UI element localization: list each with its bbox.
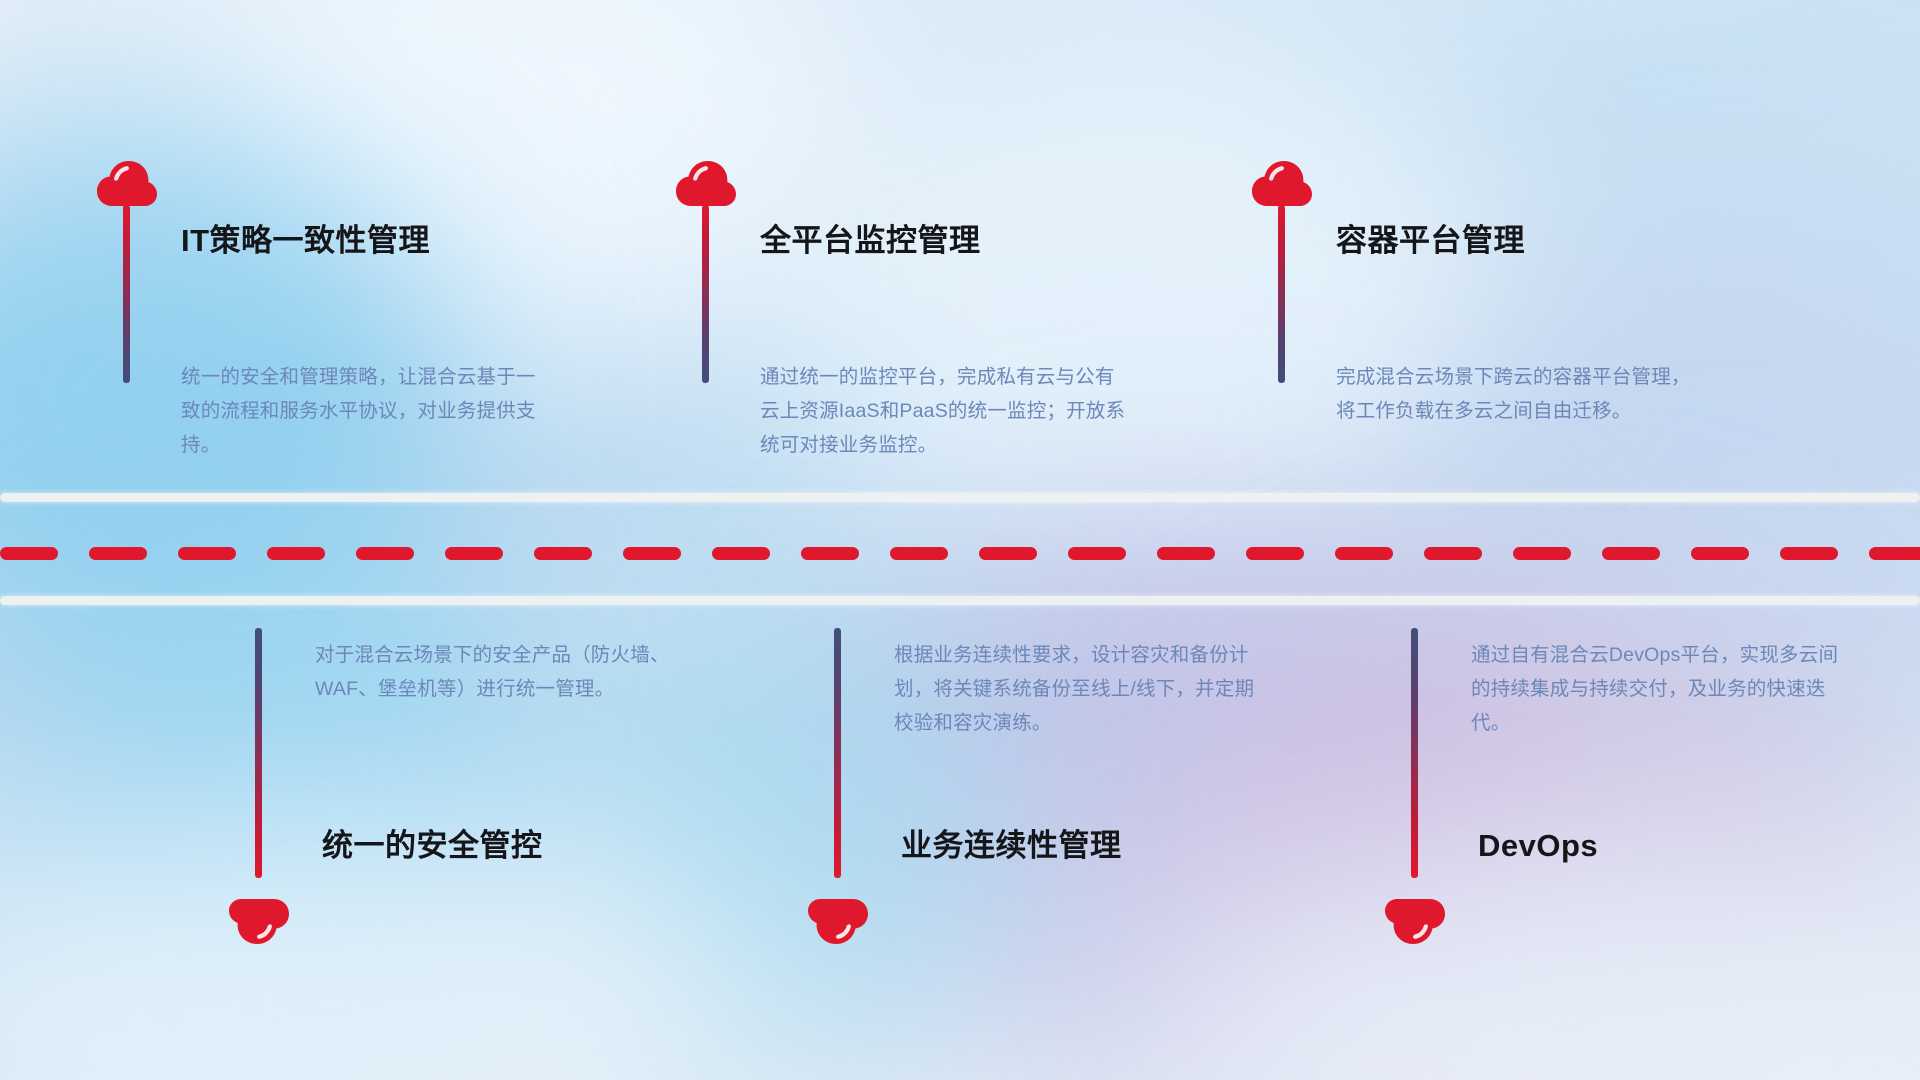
road-dash-segment [356,547,414,560]
item-body-text: 通过自有混合云DevOps平台，实现多云间的持续集成与持续交付，及业务的快速迭代… [1471,638,1843,740]
cloud-pin-icon [96,160,158,207]
item-body-text: 统一的安全和管理策略，让混合云基于一致的流程和服务水平协议，对业务提供支持。 [181,360,541,462]
road-dash-segment [1691,547,1749,560]
road-dash-segment [1513,547,1571,560]
road-dash-segment [445,547,503,560]
item-title: DevOps [1478,827,1598,864]
road-line-upper [0,493,1920,502]
cloud-pin-icon [675,160,737,207]
cloud-pin-icon [228,898,290,945]
item-title: 业务连续性管理 [901,827,1122,864]
road-dash-segment [1335,547,1393,560]
item-body-text: 根据业务连续性要求，设计容灾和备份计划，将关键系统备份至线上/线下，并定期校验和… [894,638,1266,740]
stem-connector [834,628,841,878]
road-dash-segment [1157,547,1215,560]
road-line-lower [0,596,1920,605]
road-dash-segment [979,547,1037,560]
road-dash-segment [890,547,948,560]
road-dash-segment [267,547,325,560]
road-dash-segment [1424,547,1482,560]
stem-connector [702,205,709,383]
road-dash-segment [1869,547,1920,560]
item-body-text: 通过统一的监控平台，完成私有云与公有云上资源IaaS和PaaS的统一监控；开放系… [760,360,1132,462]
item-title: IT策略一致性管理 [181,222,430,259]
road-dash-segment [178,547,236,560]
item-title: 全平台监控管理 [760,222,981,259]
item-title: 统一的安全管控 [322,827,543,864]
road-dash-segment [534,547,592,560]
road-dashed-centerline [0,547,1920,560]
stem-connector [123,205,130,383]
stem-connector [255,628,262,878]
road-dash-segment [1246,547,1304,560]
cloud-pin-icon [1251,160,1313,207]
item-body-text: 完成混合云场景下跨云的容器平台管理，将工作负载在多云之间自由迁移。 [1336,360,1708,428]
cloud-pin-icon [807,898,869,945]
road-dash-segment [623,547,681,560]
road-dash-segment [1602,547,1660,560]
road-dash-segment [801,547,859,560]
road-dash-segment [1068,547,1126,560]
cloud-pin-icon [1384,898,1446,945]
stem-connector [1411,628,1418,878]
item-title: 容器平台管理 [1336,222,1525,259]
road-dash-segment [1780,547,1838,560]
road-dash-segment [89,547,147,560]
stem-connector [1278,205,1285,383]
road-dash-segment [0,547,58,560]
item-body-text: 对于混合云场景下的安全产品（防火墙、WAF、堡垒机等）进行统一管理。 [315,638,675,706]
road-dash-segment [712,547,770,560]
